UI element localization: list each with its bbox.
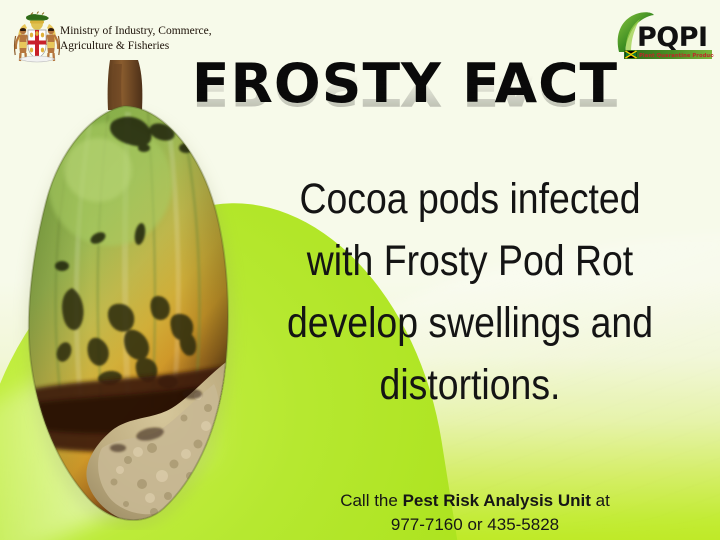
ministry-name-line1: Ministry of Industry, Commerce,	[60, 24, 240, 39]
contact-call-prefix: Call the	[340, 491, 402, 510]
contact-unit-name: Pest Risk Analysis Unit	[403, 491, 591, 510]
fact-message-line2: with Frosty Pod Rot	[277, 230, 663, 292]
ministry-name: Ministry of Industry, Commerce, Agricult…	[60, 24, 240, 54]
title-block: FROSTY FACT FROSTY FACT	[175, 58, 635, 158]
coat-of-arms-icon	[11, 9, 63, 67]
jamaica-flag-icon	[626, 51, 637, 58]
fact-message-line4: distortions.	[277, 354, 663, 416]
contact-call-suffix: at	[591, 491, 610, 510]
slide-canvas: Ministry of Industry, Commerce, Agricult…	[0, 0, 720, 540]
contact-phone-numbers: 977-7160 or 435-5828	[240, 513, 710, 537]
contact-call-line: Call the Pest Risk Analysis Unit at	[240, 489, 710, 513]
page-title-reflection: FROSTY FACT	[170, 59, 639, 111]
contact-footer: Call the Pest Risk Analysis Unit at 977-…	[240, 489, 710, 537]
fact-message-line1: Cocoa pods infected	[277, 168, 663, 230]
pqpi-wordmark: PQPI	[637, 22, 708, 53]
pqpi-tagline: Plant Quarantine Produce Inspection	[639, 53, 714, 59]
fact-message: Cocoa pods infected with Frosty Pod Rot …	[277, 168, 663, 416]
pqpi-logo: PQPI Plant Quarantine Produce Inspection	[610, 6, 714, 64]
fact-message-line3: develop swellings and	[277, 292, 663, 354]
